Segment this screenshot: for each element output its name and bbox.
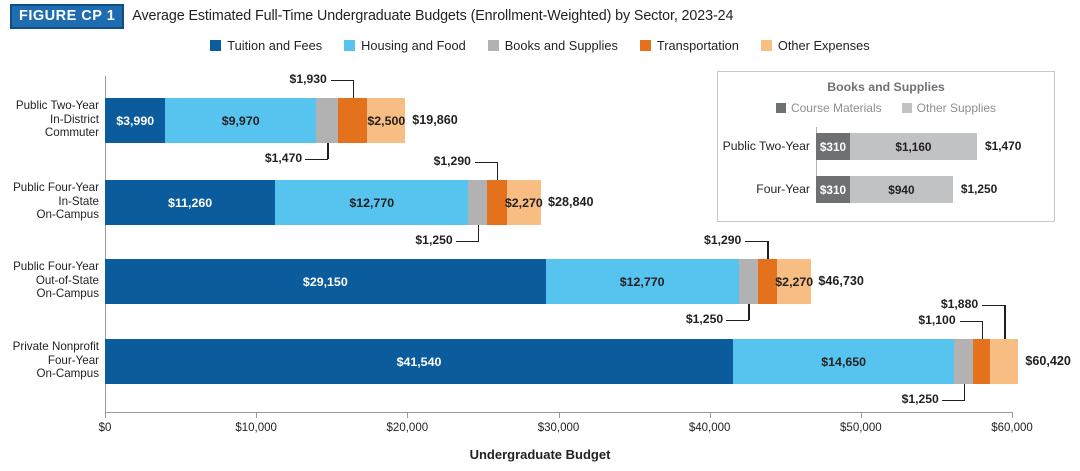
bar-segment-transportation[interactable] — [487, 180, 507, 225]
x-axis-tick — [105, 412, 106, 418]
bar-total-label: $28,840 — [548, 195, 594, 209]
x-axis-tick — [1012, 412, 1013, 418]
inset-bar-segment-other-supplies[interactable]: $940 — [850, 176, 953, 203]
bar-segment-other-expenses[interactable] — [990, 339, 1018, 384]
callout-books-and-supplies-label: $1,250 — [415, 233, 452, 247]
bar-segment-value-label: $14,650 — [821, 355, 866, 369]
y-axis-category-line: Private Nonprofit — [13, 340, 99, 353]
callout-other-expenses-leader-vertical — [1004, 305, 1005, 339]
x-axis-tick-label: $10,000 — [235, 422, 277, 434]
callout-transportation-label: $1,100 — [918, 313, 955, 327]
callout-transportation-label: $1,930 — [290, 72, 327, 86]
y-axis-category-line: Public Four-Year — [13, 260, 99, 273]
callout-transportation-leader-horizontal — [331, 80, 354, 81]
callout-transportation-leader-horizontal — [475, 162, 498, 163]
inset-bar-total-label: $1,250 — [961, 182, 997, 196]
bar-segment-other-expenses[interactable]: $2,270 — [777, 259, 811, 304]
bar-segment-transportation[interactable] — [973, 339, 990, 384]
y-axis-category-line: Commuter — [16, 126, 99, 139]
x-axis-tick-label: $60,000 — [991, 422, 1033, 434]
bar-segment-tuition-and-fees[interactable]: $11,260 — [105, 180, 275, 225]
inset-bar-segment-value-label: $940 — [888, 183, 914, 197]
inset-legend-item-other-supplies: Other Supplies — [902, 101, 996, 115]
x-axis-title: Undergraduate Budget — [0, 447, 1080, 462]
callout-books-and-supplies-label: $1,250 — [686, 312, 723, 326]
x-axis-tick-label: $0 — [99, 422, 112, 434]
x-axis-tick-label: $40,000 — [689, 422, 731, 434]
callout-books-and-supplies-leader-vertical — [748, 304, 749, 320]
inset-bar-segment-value-label: $310 — [820, 140, 846, 154]
bar-segment-tuition-and-fees[interactable]: $29,150 — [105, 259, 546, 304]
inset-bar-segment-value-label: $1,160 — [895, 140, 931, 154]
x-axis-tick-label: $50,000 — [840, 422, 882, 434]
bar-segment-housing-and-food[interactable]: $9,970 — [165, 98, 316, 143]
x-axis-tick — [407, 412, 408, 418]
callout-transportation-leader-vertical — [982, 321, 983, 339]
books-and-supplies-inset: Books and Supplies Course MaterialsOther… — [717, 71, 1055, 222]
bar-segment-housing-and-food[interactable]: $12,770 — [546, 259, 739, 304]
callout-books-and-supplies-leader-vertical — [964, 384, 965, 400]
bar-segment-value-label: $3,990 — [116, 114, 154, 128]
y-axis-category-label: Public Four-YearOut-of-StateOn-Campus — [13, 260, 99, 300]
x-axis-tick-label: $30,000 — [538, 422, 580, 434]
inset-bar-segment-course-materials[interactable]: $310 — [816, 176, 850, 203]
y-axis-category-line: Out-of-State — [13, 274, 99, 287]
callout-transportation-leader-horizontal — [745, 241, 768, 242]
callout-transportation-leader-vertical — [353, 80, 354, 98]
callout-books-and-supplies-leader-horizontal — [456, 241, 479, 242]
square-swatch-icon — [776, 103, 786, 113]
bar-segment-other-expenses[interactable]: $2,500 — [367, 98, 405, 143]
x-axis-tick-label: $20,000 — [387, 422, 429, 434]
y-axis-category-line: On-Campus — [13, 287, 99, 300]
bar-segment-books-and-supplies[interactable] — [468, 180, 487, 225]
bar-segment-other-expenses[interactable]: $2,270 — [507, 180, 541, 225]
x-axis-tick — [559, 412, 560, 418]
inset-bar-segment-other-supplies[interactable]: $1,160 — [850, 133, 977, 160]
callout-books-and-supplies-leader-vertical — [327, 143, 328, 159]
inset-legend-item-label: Other Supplies — [917, 101, 996, 115]
bar-segment-value-label: $12,770 — [620, 275, 665, 289]
y-axis-category-line: On-Campus — [13, 367, 99, 380]
callout-other-expenses-label: $1,880 — [941, 297, 978, 311]
bar-segment-books-and-supplies[interactable] — [739, 259, 758, 304]
inset-legend: Course MaterialsOther Supplies — [718, 101, 1054, 115]
bar-segment-value-label: $9,970 — [222, 114, 260, 128]
callout-books-and-supplies-leader-horizontal — [942, 400, 965, 401]
inset-legend-item-course-materials: Course Materials — [776, 101, 882, 115]
bar-total-label: $19,860 — [412, 113, 458, 127]
inset-bar-segment-value-label: $310 — [820, 183, 846, 197]
bar-segment-value-label: $2,500 — [367, 114, 405, 128]
bar-segment-value-label: $12,770 — [349, 196, 394, 210]
bar-segment-value-label: $11,260 — [168, 196, 212, 210]
callout-books-and-supplies-leader-horizontal — [726, 320, 749, 321]
callout-other-expenses-leader-horizontal — [982, 305, 1005, 306]
callout-transportation-label: $1,290 — [434, 154, 471, 168]
callout-transportation-label: $1,290 — [704, 233, 741, 247]
y-axis-category-line: In-District — [16, 113, 99, 126]
bar-segment-housing-and-food[interactable]: $14,650 — [733, 339, 954, 384]
bar-segment-value-label: $29,150 — [303, 275, 348, 289]
bar-segment-value-label: $41,540 — [397, 355, 442, 369]
inset-bar-total-label: $1,470 — [985, 139, 1021, 153]
inset-legend-item-label: Course Materials — [791, 101, 882, 115]
bar-segment-books-and-supplies[interactable] — [954, 339, 973, 384]
bar-segment-tuition-and-fees[interactable]: $41,540 — [105, 339, 733, 384]
y-axis-category-line: Four-Year — [13, 354, 99, 367]
x-axis-tick — [710, 412, 711, 418]
y-axis-category-line: On-Campus — [13, 208, 99, 221]
callout-books-and-supplies-label: $1,250 — [902, 392, 939, 406]
bar-segment-transportation[interactable] — [758, 259, 778, 304]
callout-books-and-supplies-label: $1,470 — [265, 151, 302, 165]
inset-row-label: Public Two-Year — [723, 139, 810, 153]
x-axis-tick — [256, 412, 257, 418]
callout-transportation-leader-vertical — [767, 241, 768, 259]
y-axis-category-label: Public Two-YearIn-DistrictCommuter — [16, 99, 99, 139]
callout-books-and-supplies-leader-vertical — [478, 225, 479, 241]
inset-row-label: Four-Year — [756, 182, 810, 196]
y-axis-category-label: Public Four-YearIn-StateOn-Campus — [13, 181, 99, 221]
bar-segment-tuition-and-fees[interactable]: $3,990 — [105, 98, 165, 143]
x-axis-tick — [861, 412, 862, 418]
callout-books-and-supplies-leader-horizontal — [305, 159, 328, 160]
inset-bar-segment-course-materials[interactable]: $310 — [816, 133, 850, 160]
bar-segment-books-and-supplies[interactable] — [316, 98, 338, 143]
callout-transportation-leader-horizontal — [960, 321, 983, 322]
y-axis-category-label: Private NonprofitFour-YearOn-Campus — [13, 340, 99, 380]
y-axis-category-line: Public Two-Year — [16, 99, 99, 112]
bar-segment-value-label: $2,270 — [505, 196, 543, 210]
bar-segment-value-label: $2,270 — [775, 275, 813, 289]
inset-title: Books and Supplies — [718, 80, 1054, 94]
bar-total-label: $60,420 — [1025, 354, 1071, 368]
bar-segment-housing-and-food[interactable]: $12,770 — [275, 180, 468, 225]
square-swatch-icon — [902, 103, 912, 113]
bar-total-label: $46,730 — [818, 274, 864, 288]
y-axis-category-line: Public Four-Year — [13, 181, 99, 194]
y-axis-category-line: In-State — [13, 195, 99, 208]
bar-segment-transportation[interactable] — [338, 98, 367, 143]
callout-transportation-leader-vertical — [497, 162, 498, 180]
